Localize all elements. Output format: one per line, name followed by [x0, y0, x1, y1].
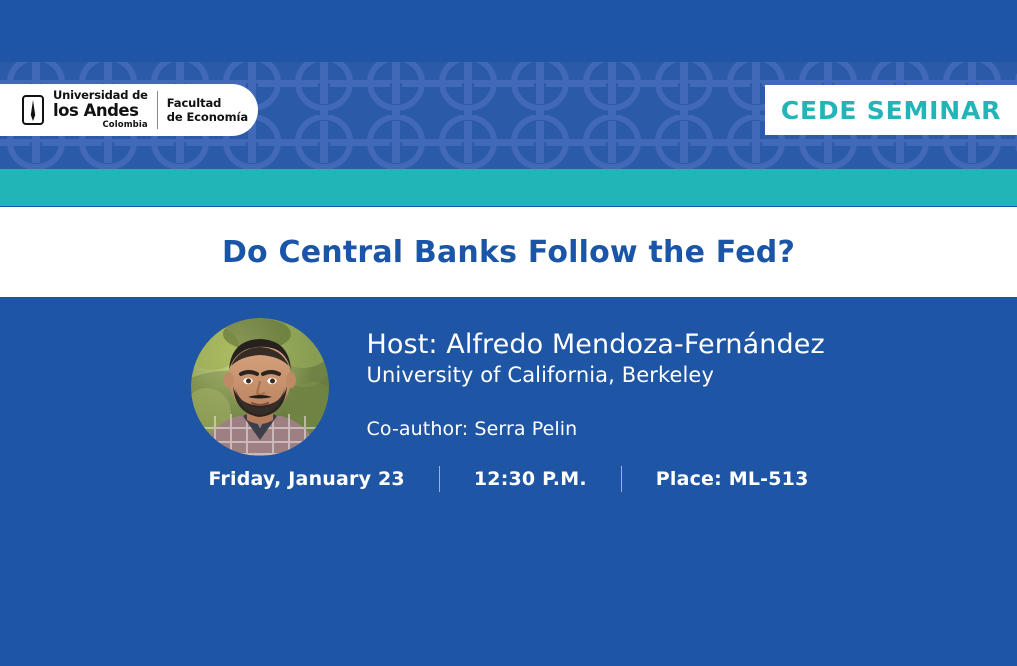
faculty-name-line1: Facultad: [167, 96, 248, 110]
teal-divider-band: [0, 169, 1017, 206]
university-name-line2: los Andes: [53, 103, 148, 120]
cede-seminar-badge: CEDE SEMINAR: [765, 85, 1017, 135]
event-place: Place: ML-513: [656, 468, 809, 490]
event-meta: Friday, January 23 12:30 P.M. Place: ML-…: [0, 466, 1017, 492]
vertical-divider-icon: [157, 91, 158, 129]
faculty-name: Facultad de Economía: [167, 96, 248, 125]
university-country: Colombia: [53, 121, 148, 130]
speaker-details: Host: Alfredo Mendoza-Fernández Universi…: [367, 318, 827, 440]
speaker-portrait-photo: [191, 318, 329, 456]
title-band: Do Central Banks Follow the Fed?: [0, 207, 1017, 297]
university-logo-plate: Universidad de los Andes Colombia Facult…: [0, 84, 258, 136]
speaker-coauthor: Co-author: Serra Pelin: [367, 418, 827, 440]
page-title: Do Central Banks Follow the Fed?: [222, 235, 795, 270]
university-name: Universidad de los Andes Colombia: [53, 90, 148, 130]
faculty-name-line2: de Economía: [167, 110, 248, 124]
speaker-section: Host: Alfredo Mendoza-Fernández Universi…: [0, 318, 1017, 456]
cede-seminar-label: CEDE SEMINAR: [781, 96, 1001, 125]
meta-separator-icon: [439, 466, 440, 492]
meta-separator-icon: [621, 466, 622, 492]
event-time: 12:30 P.M.: [474, 468, 587, 490]
book-crest-icon: [22, 95, 44, 125]
university-name-line1: Universidad de: [53, 90, 148, 102]
seminar-poster: Universidad de los Andes Colombia Facult…: [0, 0, 1017, 666]
event-date: Friday, January 23: [208, 468, 404, 490]
speaker-host-name: Host: Alfredo Mendoza-Fernández: [367, 330, 827, 360]
speaker-affiliation: University of California, Berkeley: [367, 363, 827, 388]
